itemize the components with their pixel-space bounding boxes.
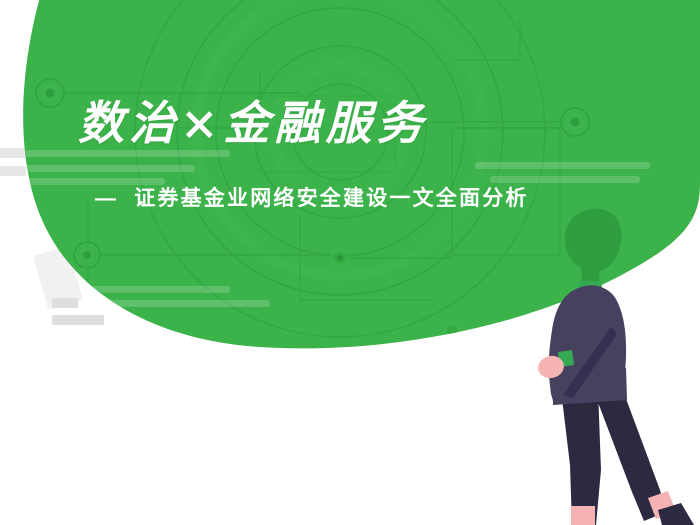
node-center-small — [329, 247, 351, 269]
background-art-layer — [0, 0, 700, 525]
poster-canvas: 数治×金融服务 —证券基金业网络安全建设一文全面分析 — [0, 0, 700, 525]
person-back-ankle — [571, 506, 595, 525]
